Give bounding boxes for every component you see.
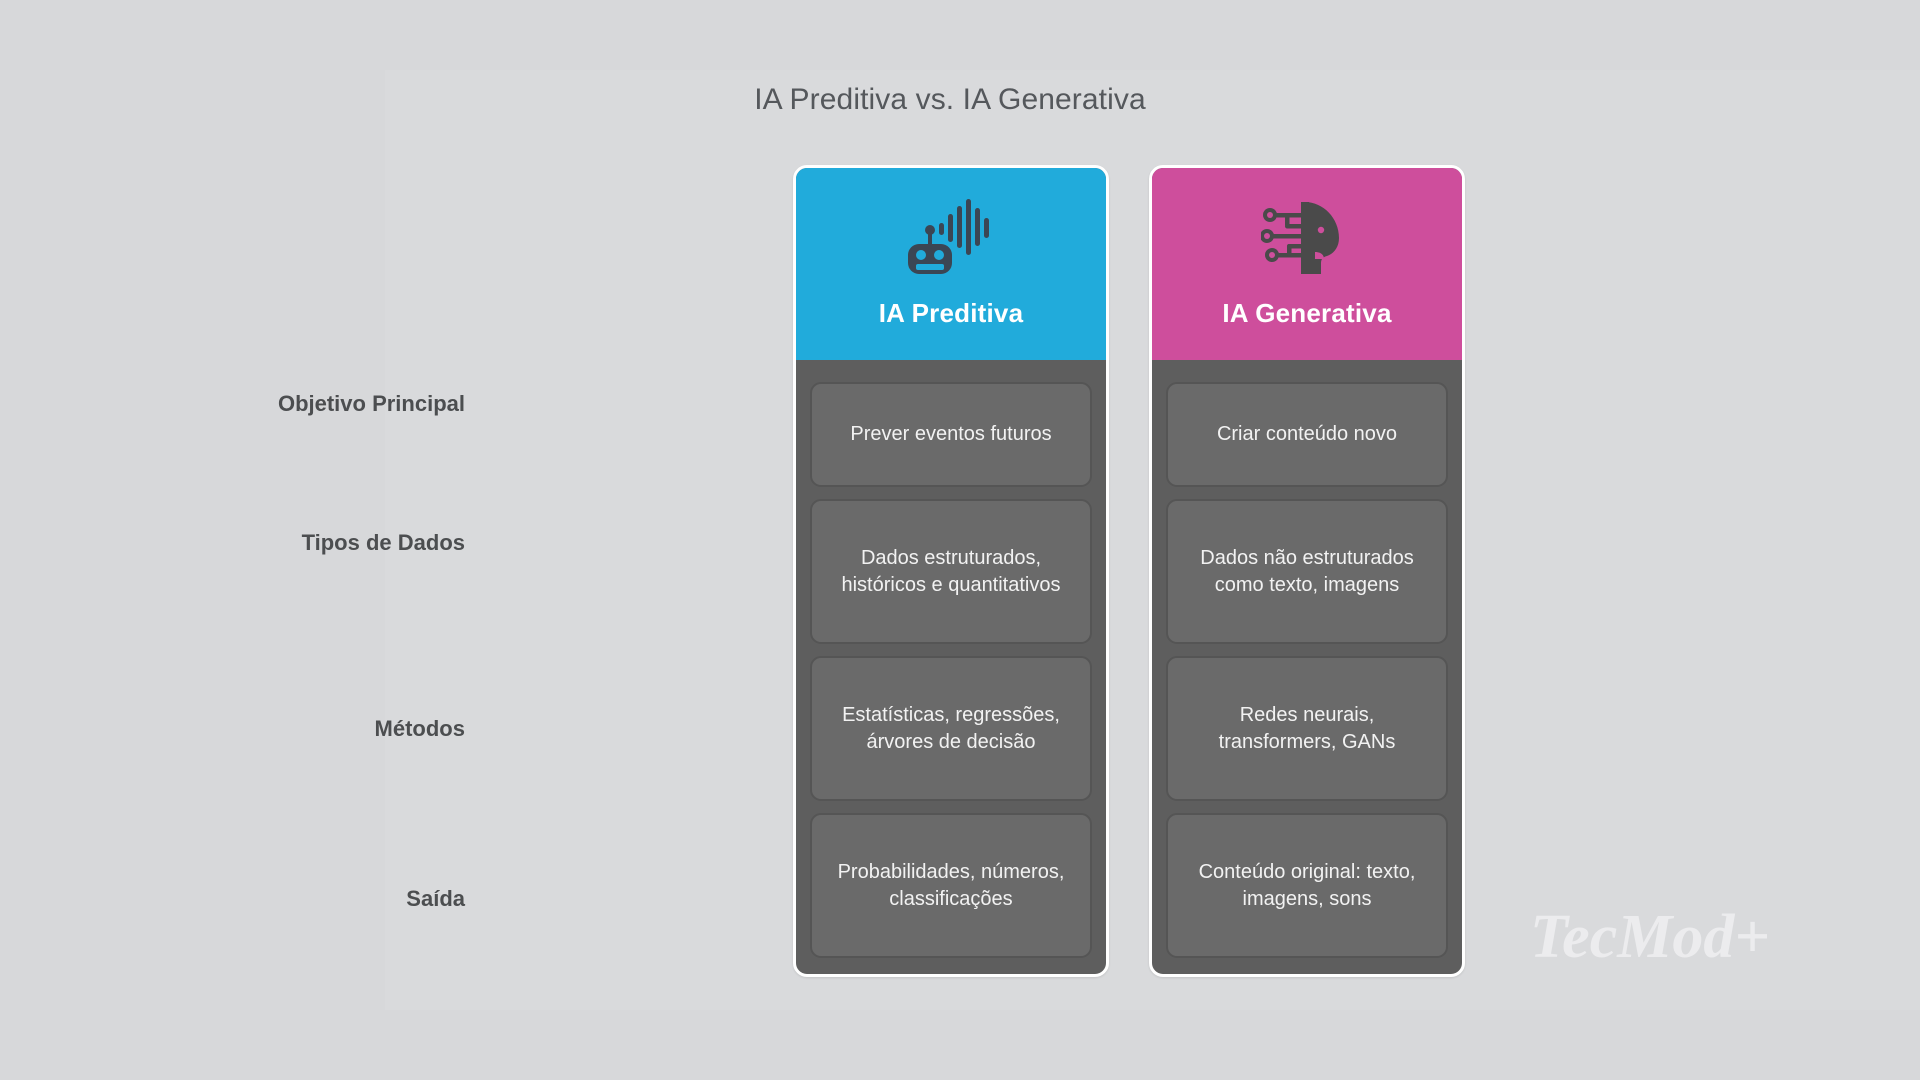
row-label-metodos: Métodos — [135, 716, 465, 742]
column-ia-generativa[interactable]: IA Generativa Criar conteúdo novo Dados … — [1149, 165, 1465, 977]
column-ia-preditiva[interactable]: IA Preditiva Prever eventos futuros Dado… — [793, 165, 1109, 977]
column-header-ia-preditiva: IA Preditiva — [796, 168, 1106, 360]
cell-preditiva-tipos-de-dados[interactable]: Dados estruturados, históricos e quantit… — [810, 499, 1092, 644]
cell-preditiva-metodos[interactable]: Estatísticas, regressões, árvores de dec… — [810, 656, 1092, 801]
page-title: IA Preditiva vs. IA Generativa — [0, 83, 1920, 117]
column-header-ia-generativa: IA Generativa — [1152, 168, 1462, 360]
robot-soundwave-icon — [903, 192, 999, 284]
comparison-infographic: IA Preditiva vs. IA Generativa Objetivo … — [0, 0, 1920, 1080]
row-label-tipos-de-dados: Tipos de Dados — [135, 530, 465, 556]
cell-preditiva-saida[interactable]: Probabilidades, números, classificações — [810, 813, 1092, 958]
column-title-ia-generativa: IA Generativa — [1222, 298, 1391, 329]
cell-generativa-metodos[interactable]: Redes neurais, transformers, GANs — [1166, 656, 1448, 801]
watermark-text: TecMod+ — [1530, 903, 1770, 971]
column-body-ia-preditiva: Prever eventos futuros Dados estruturado… — [796, 360, 1106, 974]
cell-generativa-saida[interactable]: Conteúdo original: texto, imagens, sons — [1166, 813, 1448, 958]
row-label-saida: Saída — [135, 886, 465, 912]
ai-head-circuit-icon — [1261, 192, 1353, 284]
cell-generativa-tipos-de-dados[interactable]: Dados não estruturados como texto, image… — [1166, 499, 1448, 644]
cell-preditiva-objetivo-principal[interactable]: Prever eventos futuros — [810, 382, 1092, 487]
page-title-text: IA Preditiva vs. IA Generativa — [754, 83, 1146, 117]
column-body-ia-generativa: Criar conteúdo novo Dados não estruturad… — [1152, 360, 1462, 974]
tecmod-watermark-logo: TecMod+ — [1530, 895, 1820, 975]
column-title-ia-preditiva: IA Preditiva — [879, 298, 1024, 329]
row-label-objetivo-principal: Objetivo Principal — [135, 391, 465, 417]
cell-generativa-objetivo-principal[interactable]: Criar conteúdo novo — [1166, 382, 1448, 487]
